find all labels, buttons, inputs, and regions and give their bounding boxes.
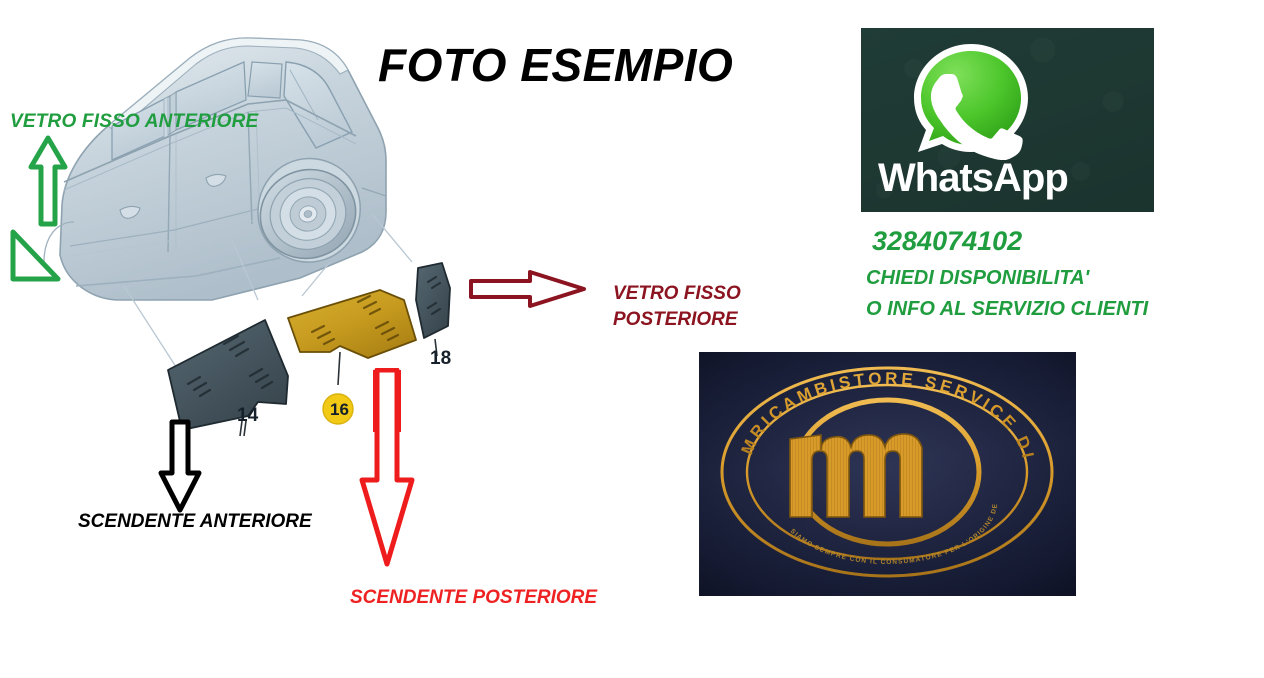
contact-line-1: CHIEDI DISPONIBILITA' xyxy=(866,267,1089,290)
part-number-14: 14 xyxy=(237,405,258,427)
whatsapp-banner[interactable]: WhatsApp xyxy=(861,28,1154,212)
whatsapp-logo-icon xyxy=(909,40,1034,162)
green-up-arrow-icon xyxy=(28,135,68,227)
part-18-rear-fixed-glass xyxy=(416,263,450,356)
black-down-arrow-icon xyxy=(156,419,204,514)
company-logo-photo: MRICAMBISTORE SERVICE DI RUSSO MARCO SIA… xyxy=(699,352,1076,596)
part-number-16: 16 xyxy=(330,400,349,420)
logo-monogram xyxy=(790,434,922,517)
whatsapp-wordmark: WhatsApp xyxy=(878,156,1138,200)
part-number-18: 18 xyxy=(430,348,451,370)
label-vetro-fisso-posteriore-line1: VETRO FISSO xyxy=(613,281,741,307)
red-down-arrow-icon xyxy=(357,368,417,568)
car-illustration-body xyxy=(44,38,386,300)
label-vetro-fisso-posteriore: VETRO FISSO POSTERIORE xyxy=(613,281,741,333)
green-triangle-icon xyxy=(8,228,62,284)
label-scendente-anteriore: SCENDENTE ANTERIORE xyxy=(78,511,312,533)
maroon-right-arrow-icon xyxy=(468,268,588,310)
page-title: FOTO ESEMPIO xyxy=(378,38,733,92)
phone-number[interactable]: 3284074102 xyxy=(872,226,1022,257)
label-vetro-fisso-posteriore-line2: POSTERIORE xyxy=(613,307,741,333)
label-vetro-fisso-anteriore: VETRO FISSO ANTERIORE xyxy=(10,111,258,133)
screenshot-canvas: 14 16 17 18 FOTO ESEMPIO VETRO FISSO ANT… xyxy=(0,0,1264,678)
contact-line-2: O INFO AL SERVIZIO CLIENTI xyxy=(866,298,1148,321)
label-scendente-posteriore: SCENDENTE POSTERIORE xyxy=(350,587,597,609)
